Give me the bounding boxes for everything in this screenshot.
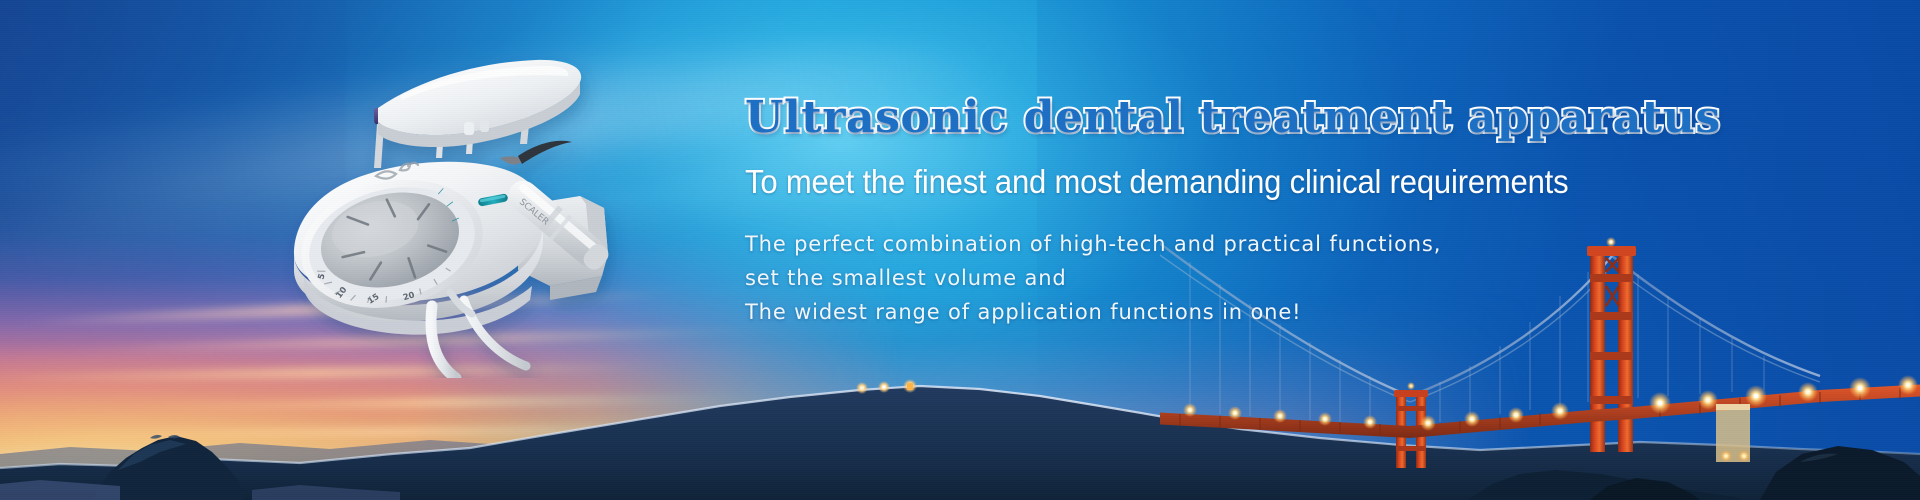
device-body-group: 5 10 15 20 | | | (288, 60, 613, 378)
subtitle: To meet the finest and most demanding cl… (745, 164, 1741, 201)
body-line-2: set the smallest volume and (745, 261, 1805, 295)
scaler-tip (518, 141, 572, 164)
body-line-1: The perfect combination of high-tech and… (745, 227, 1805, 261)
tip-holder-nub (464, 122, 474, 135)
body-line-3: The widest range of application function… (745, 295, 1805, 329)
body-copy: The perfect combination of high-tech and… (745, 227, 1805, 329)
rock-texture (150, 435, 180, 439)
bridge-abutment (1716, 404, 1750, 462)
foreground-rock (1760, 446, 1920, 500)
hero-banner: 5 10 15 20 | | | (0, 0, 1920, 500)
ultrasonic-dental-scaler: 5 10 15 20 | | | (250, 48, 670, 378)
foreground-rock (1590, 478, 1700, 500)
ridge-lights (856, 379, 917, 394)
page-title: Ultrasonic dental treatment apparatus (745, 96, 1805, 140)
banner-copy: Ultrasonic dental treatment apparatus To… (745, 96, 1805, 329)
tip-holder-nub (480, 120, 489, 132)
